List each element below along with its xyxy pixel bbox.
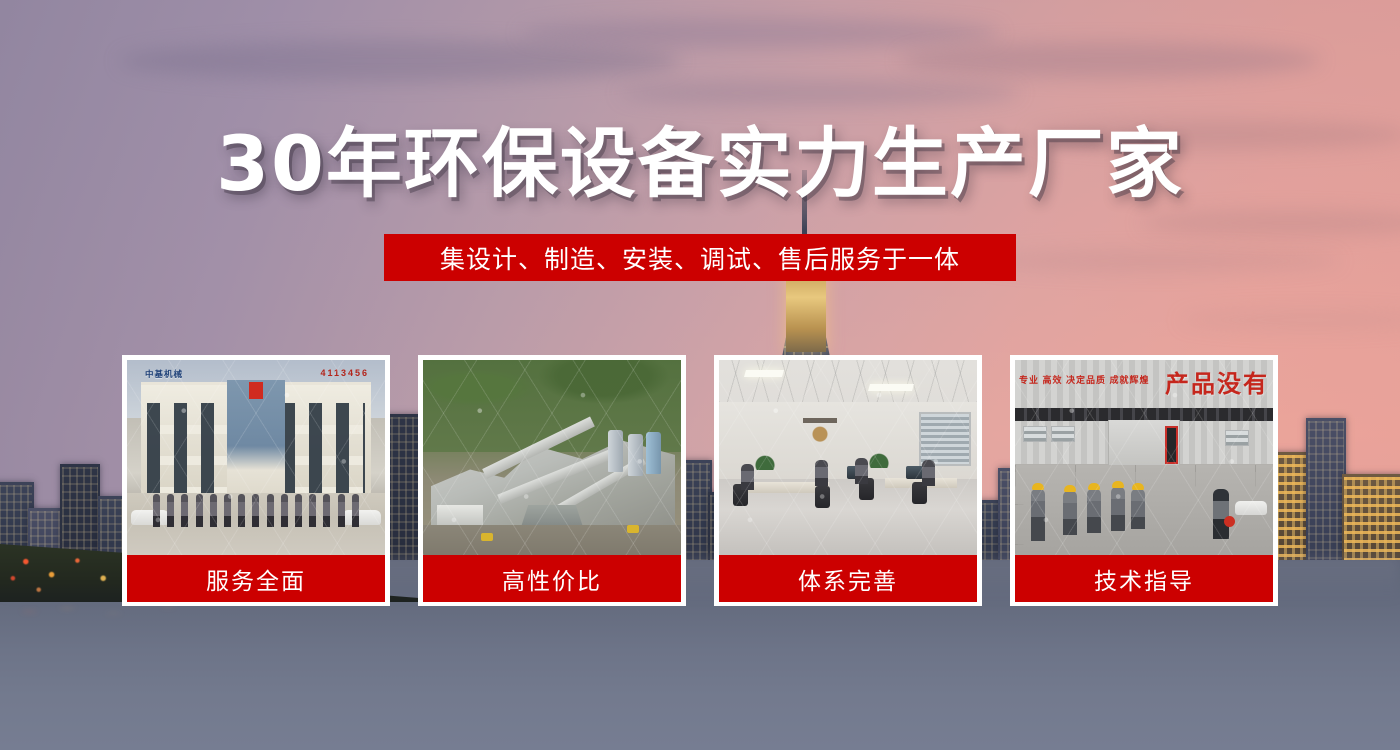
card-caption-text: 服务全面 — [206, 562, 306, 596]
ceiling-light — [744, 370, 784, 377]
potted-plant — [869, 452, 889, 468]
worker — [1111, 487, 1125, 531]
computer-monitor — [906, 466, 923, 479]
factory-window — [1023, 426, 1047, 442]
staff-person — [196, 494, 203, 527]
card-caption: 体系完善 — [719, 555, 977, 602]
factory-workers-training-photo: 产品没有 专业 高效 决定品质 成就辉煌 — [1015, 360, 1273, 555]
office-chair — [815, 486, 830, 508]
flag — [249, 382, 263, 399]
ceiling-light — [868, 384, 914, 391]
company-headquarters-photo: 中基机械 4113456 — [127, 360, 385, 555]
office-interior-photo — [719, 360, 977, 555]
subtitle-text: 集设计、制造、安装、调试、售后服务于一体 — [440, 240, 960, 276]
factory-wall-subslogan: 专业 高效 决定品质 成就辉煌 — [1019, 374, 1150, 386]
cloud-band — [520, 18, 1000, 48]
staff-person — [323, 494, 330, 527]
feature-card[interactable]: 产品没有 专业 高效 决定品质 成就辉煌 技术指导 — [1010, 355, 1278, 606]
office-worker — [815, 460, 828, 486]
warehouse-shed — [437, 505, 483, 527]
staff-lineup — [153, 491, 359, 527]
red-helmet-icon — [1224, 516, 1235, 527]
parked-car — [1235, 501, 1267, 515]
building-phone-text: 4113456 — [320, 368, 369, 378]
staff-person — [252, 494, 259, 527]
page-title: 30年环保设备实力生产厂家 — [0, 126, 1400, 202]
factory-wall-slogan: 产品没有 — [1165, 364, 1269, 399]
staff-person — [167, 494, 174, 527]
subtitle-banner: 集设计、制造、安装、调试、售后服务于一体 — [384, 234, 1016, 281]
feature-card[interactable]: 中基机械 4113456 — [122, 355, 390, 606]
staff-person — [153, 494, 160, 527]
excavator — [627, 525, 639, 533]
aerial-production-plant-photo — [423, 360, 681, 555]
feature-card[interactable]: 高性价比 — [418, 355, 686, 606]
office-worker — [922, 460, 935, 486]
landmark-tower-crown — [786, 274, 826, 352]
factory-window — [1225, 430, 1249, 446]
storage-silo — [628, 434, 643, 476]
feature-card[interactable]: 体系完善 — [714, 355, 982, 606]
hard-hat-icon — [1088, 483, 1100, 490]
plant-yard — [423, 525, 681, 555]
card-caption-text: 体系完善 — [798, 562, 898, 596]
card-caption: 服务全面 — [127, 555, 385, 602]
factory-window — [1051, 426, 1075, 442]
staff-person — [338, 494, 345, 527]
office-worker — [741, 464, 754, 490]
supervisor — [1213, 489, 1229, 539]
hard-hat-icon — [1132, 483, 1144, 490]
promo-banner: 30年环保设备实力生产厂家 集设计、制造、安装、调试、售后服务于一体 中基机械 … — [0, 0, 1400, 750]
office-worker — [855, 458, 868, 484]
staff-person — [238, 494, 245, 527]
storage-silo — [608, 430, 623, 472]
cloud-band — [900, 42, 1320, 78]
storage-silo — [646, 432, 661, 474]
staff-person — [181, 494, 188, 527]
staff-person — [224, 494, 231, 527]
worker — [1131, 489, 1145, 529]
potted-plant — [755, 454, 775, 470]
worker — [1063, 491, 1077, 535]
hard-hat-icon — [1112, 481, 1124, 488]
staff-person — [295, 494, 302, 527]
worker — [1087, 489, 1101, 533]
staff-person — [309, 494, 316, 527]
staff-person — [210, 494, 217, 527]
hard-hat-icon — [1064, 485, 1076, 492]
hard-hat-icon — [1032, 483, 1044, 490]
staff-person — [281, 494, 288, 527]
excavator — [481, 533, 493, 541]
building-sign-text: 中基机械 — [145, 368, 183, 380]
card-caption: 高性价比 — [423, 555, 681, 602]
office-window-blinds — [919, 412, 971, 466]
cloud-band — [620, 80, 1020, 106]
staff-person — [352, 494, 359, 527]
wall-decal — [803, 418, 837, 444]
card-caption-text: 高性价比 — [502, 562, 602, 596]
feature-card-row: 中基机械 4113456 — [122, 355, 1278, 606]
card-caption-text: 技术指导 — [1094, 562, 1194, 596]
factory-side-door — [1165, 426, 1178, 464]
card-caption: 技术指导 — [1015, 555, 1273, 602]
worker — [1031, 489, 1045, 541]
cloud-band — [120, 40, 680, 82]
staff-person — [267, 494, 274, 527]
office-ceiling — [719, 360, 977, 404]
